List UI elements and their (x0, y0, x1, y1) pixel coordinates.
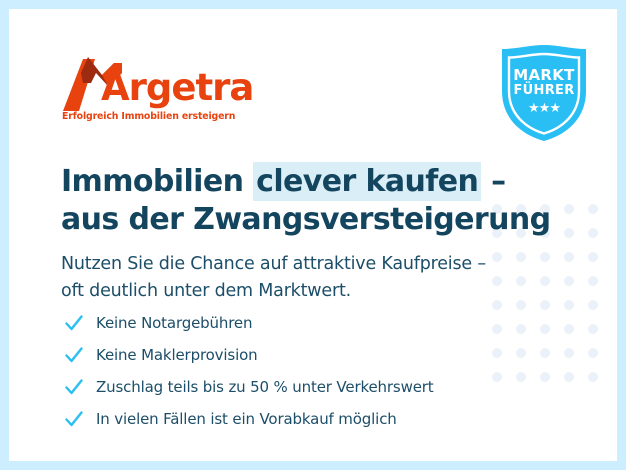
page-title: Immobilien clever kaufen – aus der Zwang… (61, 163, 581, 240)
decorative-dot (540, 324, 550, 334)
headline-line-2: aus der Zwangsversteigerung (61, 201, 581, 239)
list-item: Zuschlag teils bis zu 50 % unter Verkehr… (64, 371, 524, 403)
benefit-label: Keine Maklerprovision (96, 346, 257, 364)
decorative-dot (588, 300, 598, 310)
banner-canvas: Argetra Erfolgreich Immobilien ersteiger… (9, 9, 617, 461)
decorative-dot (564, 372, 574, 382)
check-icon (64, 377, 84, 397)
check-icon (64, 313, 84, 333)
list-item: Keine Notargebühren (64, 307, 524, 339)
logo-tagline: Erfolgreich Immobilien ersteigern (62, 111, 235, 122)
headline-pre: Immobilien (61, 164, 253, 199)
list-item: In vielen Fällen ist ein Vorabkauf mögli… (64, 403, 524, 435)
subtitle: Nutzen Sie die Chance auf attraktive Kau… (61, 251, 581, 305)
decorative-dot (588, 348, 598, 358)
decorative-dot (588, 252, 598, 262)
decorative-dot (540, 348, 550, 358)
decorative-dot (540, 372, 550, 382)
logo-wordmark: Argetra (101, 69, 253, 106)
decorative-dot (588, 372, 598, 382)
brand-logo[interactable]: Argetra Erfolgreich Immobilien ersteiger… (61, 53, 261, 115)
benefit-label: Keine Notargebühren (96, 314, 252, 332)
decorative-dot (588, 276, 598, 286)
headline-line-1: Immobilien clever kaufen – (61, 163, 581, 201)
check-icon (64, 345, 84, 365)
market-leader-badge: MARKT FÜHRER ★★★ (496, 43, 592, 143)
decorative-dot (564, 324, 574, 334)
subtitle-line-2: oft deutlich unter dem Marktwert. (61, 278, 581, 305)
decorative-dot (588, 204, 598, 214)
decorative-dot (588, 324, 598, 334)
list-item: Keine Maklerprovision (64, 339, 524, 371)
headline-post: – (481, 164, 505, 199)
benefit-list: Keine NotargebührenKeine Maklerprovision… (64, 307, 524, 435)
headline-highlight: clever kaufen (253, 162, 481, 201)
shield-icon (496, 43, 592, 143)
advertisement-banner[interactable]: Argetra Erfolgreich Immobilien ersteiger… (0, 0, 626, 470)
decorative-dot (588, 228, 598, 238)
decorative-dot (564, 348, 574, 358)
logo-top-row: Argetra (61, 53, 261, 115)
subtitle-line-1: Nutzen Sie die Chance auf attraktive Kau… (61, 251, 581, 278)
check-icon (64, 409, 84, 429)
benefit-label: Zuschlag teils bis zu 50 % unter Verkehr… (96, 378, 434, 396)
benefit-label: In vielen Fällen ist ein Vorabkauf mögli… (96, 410, 397, 428)
